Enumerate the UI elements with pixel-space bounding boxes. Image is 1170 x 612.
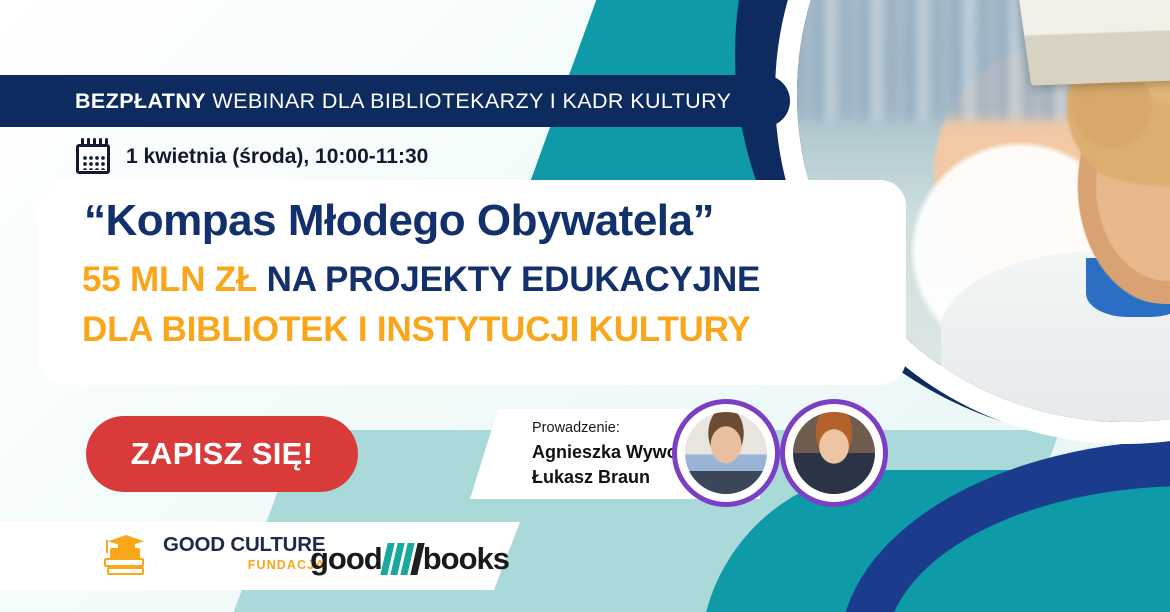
webinar-type-bar: BEZPŁATNY WEBINAR DLA BIBLIOTEKARZY I KA… <box>0 75 790 127</box>
webinar-subject-label: WEBINAR DLA BIBLIOTEKARZY I KADR KULTURY <box>206 89 731 113</box>
webinar-promo-banner: BEZPŁATNY WEBINAR DLA BIBLIOTEKARZY I KA… <box>0 0 1170 612</box>
photo-open-book <box>1007 0 1170 85</box>
headline-program-title: “Kompas Młodego Obywatela” <box>84 196 714 246</box>
headline-line-2: 55 MLN ZŁ NA PROJEKTY EDUKACYJNE <box>82 260 760 300</box>
good-culture-logo[interactable]: GOOD CULTURE FUNDACJA <box>102 530 325 576</box>
tassel <box>106 540 108 553</box>
webinar-type-text: BEZPŁATNY WEBINAR DLA BIBLIOTEKARZY I KA… <box>75 89 731 114</box>
speaker-avatar-1 <box>672 399 780 507</box>
goodbooks-books-text: books <box>423 541 509 577</box>
date-row: 1 kwietnia (środa), 10:00-11:30 <box>76 138 428 176</box>
goodbooks-logo[interactable]: good books <box>310 541 509 577</box>
calendar-icon <box>76 138 112 176</box>
avatar-photo <box>793 412 875 494</box>
calendar-day-dots <box>82 155 106 170</box>
avatar-inner-ring <box>789 408 879 498</box>
webinar-free-label: BEZPŁATNY <box>75 89 206 113</box>
avatar-photo <box>685 412 767 494</box>
headline-line-3: DLA BIBLIOTEK I INSTYTUCJI KULTURY <box>82 310 751 350</box>
book-middle <box>104 558 144 567</box>
webinar-datetime: 1 kwietnia (środa), 10:00-11:30 <box>126 145 428 169</box>
good-culture-subtitle: FUNDACJA <box>163 559 325 572</box>
book-bottom <box>107 567 144 575</box>
headline-line-2-rest: NA PROJEKTY EDUKACYJNE <box>257 260 760 299</box>
avatar-inner-ring <box>681 408 771 498</box>
goodbooks-good-text: good <box>310 541 382 577</box>
speakers-label: Prowadzenie: <box>532 420 620 436</box>
headline-card: “Kompas Młodego Obywatela” 55 MLN ZŁ NA … <box>38 180 906 385</box>
speaker-name-2: Łukasz Braun <box>532 467 650 488</box>
headline-amount: 55 MLN ZŁ <box>82 260 257 299</box>
good-culture-wordmark: GOOD CULTURE FUNDACJA <box>163 535 325 572</box>
good-culture-name: GOOD CULTURE <box>163 533 325 556</box>
speaker-name-1: Agnieszka Wywot <box>532 442 684 463</box>
speaker-avatar-2 <box>780 399 888 507</box>
books-graduation-cap-icon <box>102 530 152 576</box>
goodbooks-slash-icon <box>384 543 421 575</box>
signup-button[interactable]: ZAPISZ SIĘ! <box>86 416 358 492</box>
